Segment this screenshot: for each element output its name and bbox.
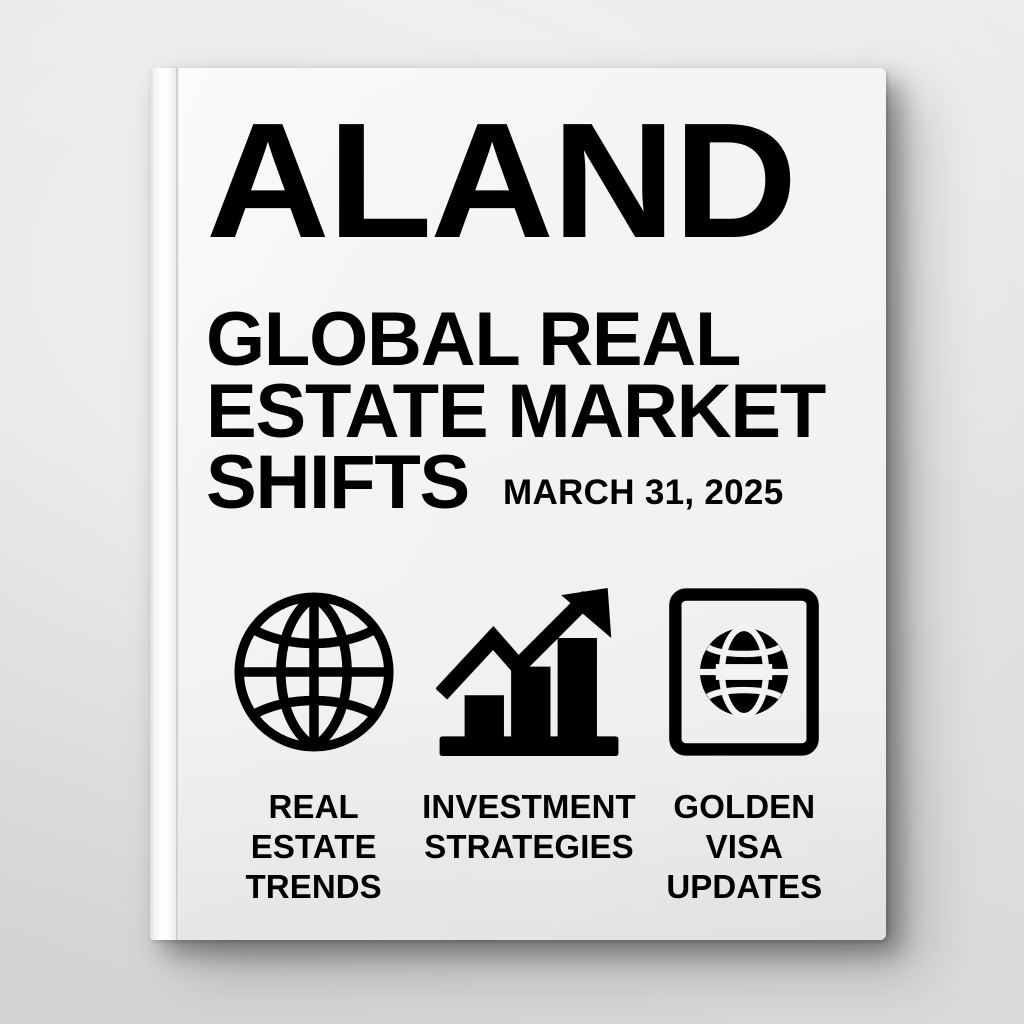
cover-content: ALAND GLOBAL REAL ESTATE MARKET SHIFTS M… [206, 114, 852, 896]
feature-caption-row: REAL ESTATE TRENDS INVESTMENT STRATEGIES… [206, 787, 852, 908]
globe-icon [229, 583, 399, 761]
book-title: ALAND [206, 114, 881, 248]
subtitle-line-3: SHIFTS [206, 447, 469, 518]
caption-line: ESTATE [206, 827, 421, 867]
caption-line: REAL [206, 787, 421, 827]
scene-backdrop: ALAND GLOBAL REAL ESTATE MARKET SHIFTS M… [0, 0, 1024, 1024]
feature-item-golden-visa-updates [637, 583, 852, 761]
caption-line: STRATEGIES [421, 827, 636, 867]
feature-item-real-estate-trends [206, 583, 421, 761]
caption-golden-visa-updates: GOLDEN VISA UPDATES [637, 787, 852, 908]
book-subtitle: GLOBAL REAL ESTATE MARKET SHIFTS MARCH 3… [206, 304, 852, 518]
caption-investment-strategies: INVESTMENT STRATEGIES [421, 787, 636, 908]
caption-line: GOLDEN [637, 787, 852, 827]
caption-line: UPDATES [637, 867, 852, 907]
feature-item-investment-strategies [421, 583, 636, 761]
caption-line: VISA [637, 827, 852, 867]
caption-line: INVESTMENT [421, 787, 636, 827]
book-cover: ALAND GLOBAL REAL ESTATE MARKET SHIFTS M… [150, 68, 886, 940]
subtitle-date-row: SHIFTS MARCH 31, 2025 [206, 447, 852, 518]
passport-icon [663, 583, 825, 761]
subtitle-line-1: GLOBAL REAL [206, 304, 852, 375]
publication-date: MARCH 31, 2025 [503, 473, 783, 513]
caption-line: TRENDS [206, 867, 421, 907]
subtitle-line-2: ESTATE MARKET [206, 376, 852, 447]
feature-icon-row [206, 583, 852, 761]
book-spine [150, 68, 178, 940]
caption-real-estate-trends: REAL ESTATE TRENDS [206, 787, 421, 908]
growth-chart-icon [436, 583, 622, 761]
